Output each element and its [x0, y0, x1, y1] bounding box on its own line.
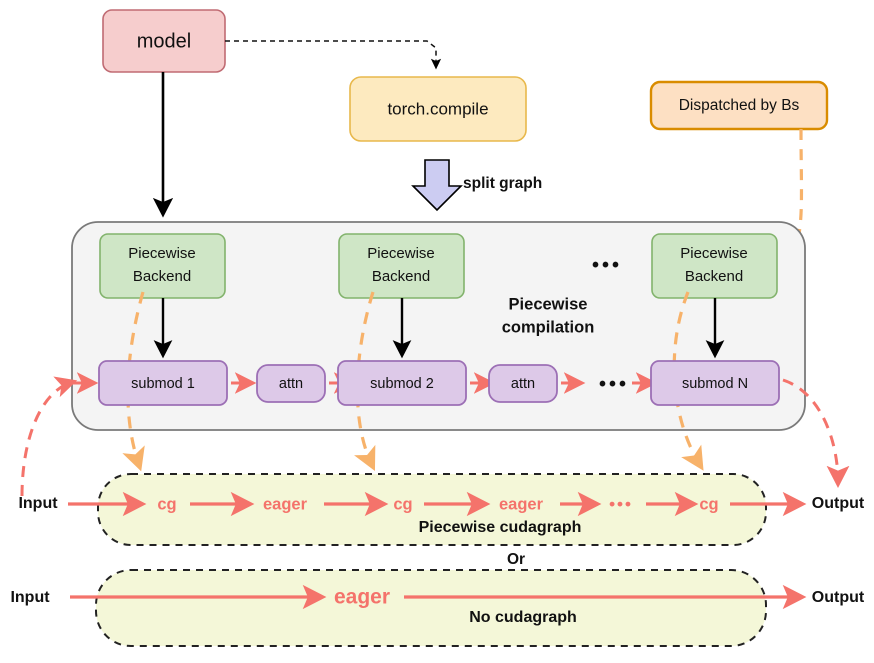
dispatched-by-bs-node[interactable]: Dispatched by Bs: [651, 82, 827, 129]
attn-2-label: attn: [511, 376, 535, 392]
no-cudagraph-caption: No cudagraph: [469, 609, 577, 626]
piecewise-backend-2[interactable]: Piecewise Backend: [339, 234, 464, 298]
piecewise-backend-n-box[interactable]: [652, 234, 777, 298]
piecewise-backend-1[interactable]: Piecewise Backend: [100, 234, 225, 298]
input-to-submod-1-dashed: [22, 382, 72, 496]
piecewise-backend-n-line1: Piecewise: [680, 245, 748, 262]
submod-2-node[interactable]: submod 2: [338, 361, 466, 405]
piecewise-output-label: Output: [812, 495, 865, 512]
submod-1-node[interactable]: submod 1: [99, 361, 227, 405]
submod-n-label: submod N: [682, 376, 748, 392]
no-cudagraph-output-label: Output: [812, 589, 865, 606]
piecewise-backend-1-line1: Piecewise: [128, 245, 196, 262]
split-graph-label: split graph: [463, 175, 542, 192]
attn-2-node[interactable]: attn: [489, 365, 557, 402]
piecewise-step-1: cg: [157, 495, 176, 513]
submod-row-ellipsis: •••: [599, 373, 629, 395]
dispatched-by-bs-label: Dispatched by Bs: [679, 97, 800, 114]
piecewise-compilation-title-line2: compilation: [502, 318, 595, 336]
piecewise-backend-2-line1: Piecewise: [367, 245, 435, 262]
split-graph-arrow: [413, 160, 461, 210]
piecewise-step-4: eager: [499, 495, 544, 513]
no-cudagraph-box: [96, 570, 766, 646]
torch-compile-node[interactable]: torch.compile: [350, 77, 526, 141]
piecewise-backend-n[interactable]: Piecewise Backend: [652, 234, 777, 298]
no-cudagraph-input-label: Input: [10, 589, 50, 606]
backend-row-ellipsis: •••: [592, 254, 622, 276]
piecewise-backend-n-line2: Backend: [685, 268, 743, 285]
architecture-diagram: model torch.compile split graph Dispatch…: [0, 0, 874, 663]
piecewise-backend-2-line2: Backend: [372, 268, 430, 285]
piecewise-step-6: cg: [699, 495, 718, 513]
model-node[interactable]: model: [103, 10, 225, 72]
piecewise-cudagraph-caption: Piecewise cudagraph: [419, 519, 582, 536]
no-cudagraph-step-1: eager: [334, 586, 390, 609]
submod-1-label: submod 1: [131, 376, 195, 392]
piecewise-backend-1-box[interactable]: [100, 234, 225, 298]
no-cudagraph-lane: [96, 570, 766, 646]
piecewise-input-label: Input: [18, 495, 58, 512]
piecewise-step-2: eager: [263, 495, 308, 513]
or-label: Or: [507, 551, 525, 568]
piecewise-backend-1-line2: Backend: [133, 268, 191, 285]
submod-2-label: submod 2: [370, 376, 434, 392]
torch-compile-label: torch.compile: [387, 99, 488, 118]
diagram-canvas: model torch.compile split graph Dispatch…: [0, 0, 874, 663]
submod-n-node[interactable]: submod N: [651, 361, 779, 405]
piecewise-compilation-title-line1: Piecewise: [509, 295, 588, 313]
piecewise-step-5-ellipsis: •••: [609, 494, 633, 513]
piecewise-backend-2-box[interactable]: [339, 234, 464, 298]
attn-1-label: attn: [279, 376, 303, 392]
attn-1-node[interactable]: attn: [257, 365, 325, 402]
model-label: model: [137, 30, 191, 52]
model-to-compile-connector: [225, 41, 436, 68]
piecewise-step-3: cg: [393, 495, 412, 513]
